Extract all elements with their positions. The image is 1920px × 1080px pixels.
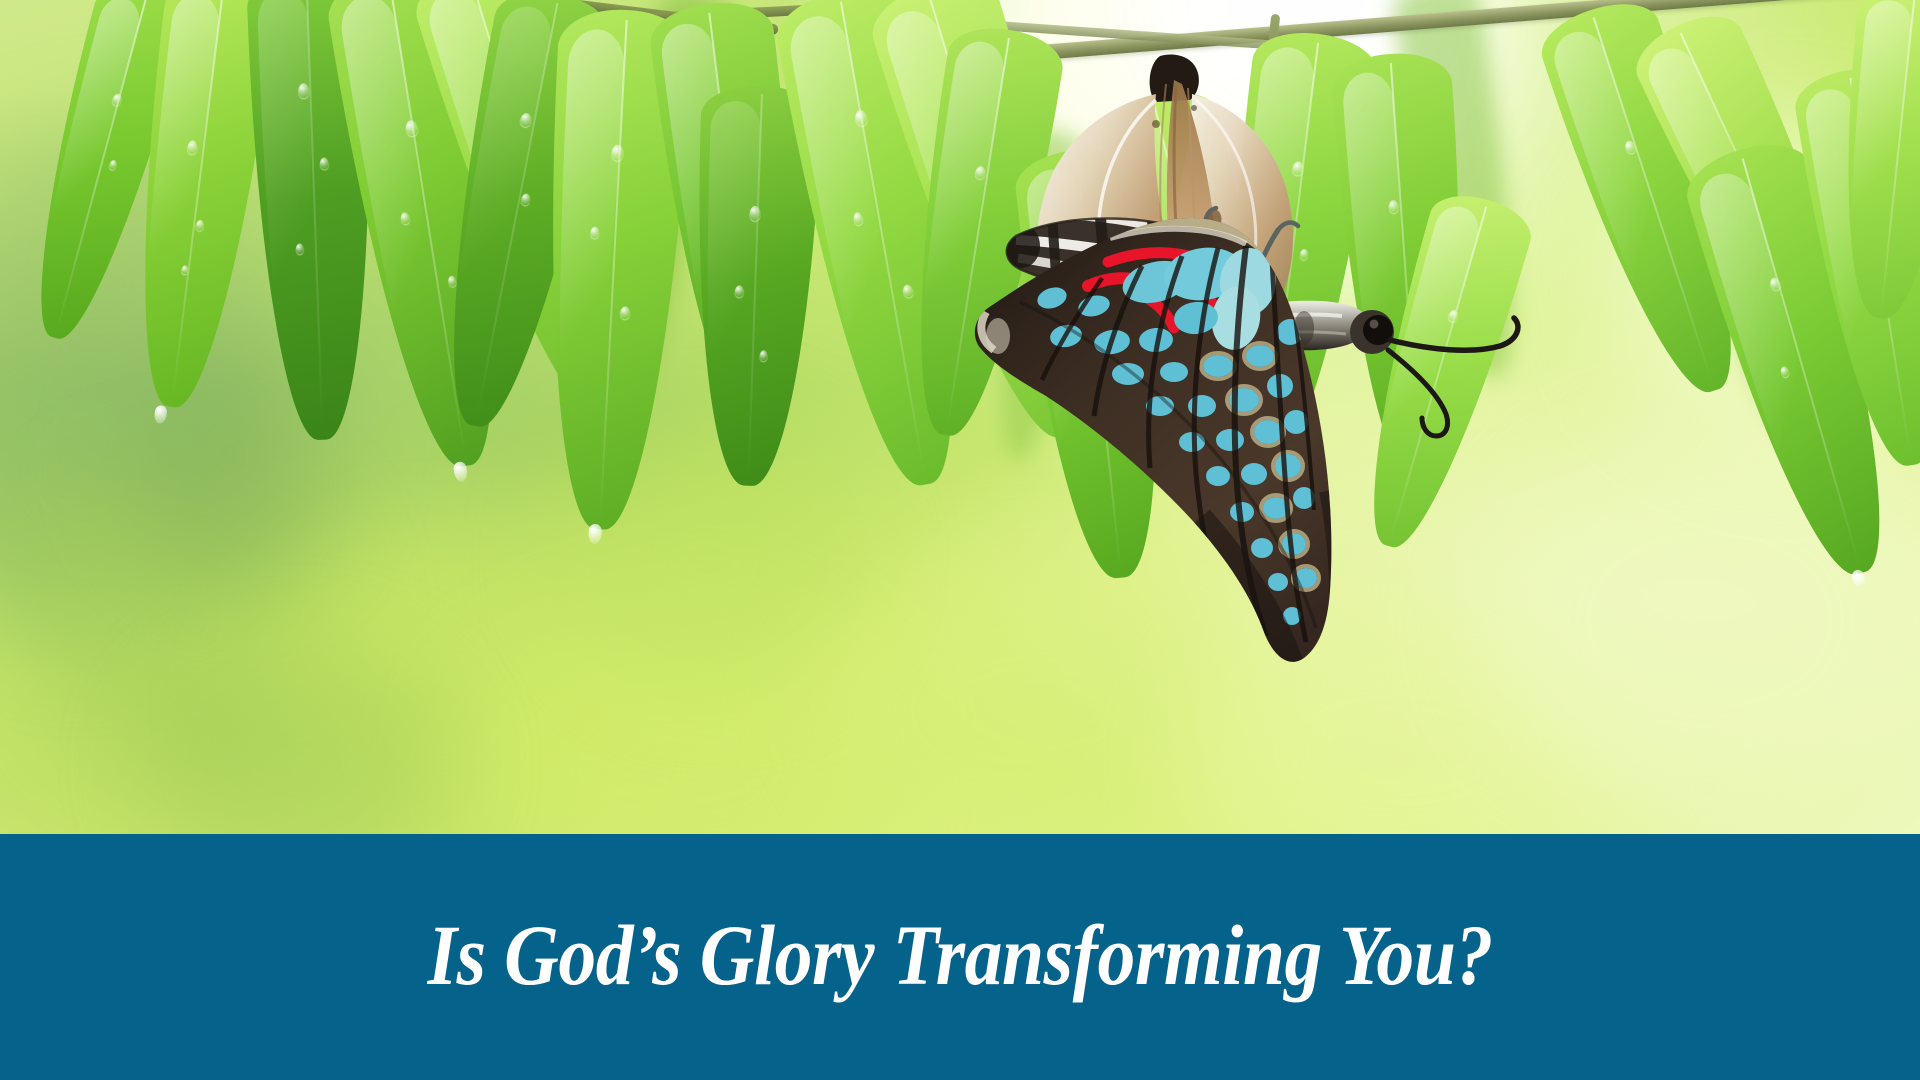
butterfly-main-wing <box>975 218 1342 688</box>
water-droplet <box>590 227 600 239</box>
water-droplet <box>734 285 743 297</box>
water-droplet <box>295 243 303 254</box>
poster-stage: Is God’s Glory Transforming You? <box>0 0 1920 1080</box>
hero-photograph <box>0 0 1920 834</box>
butterfly-antennae <box>1388 318 1518 436</box>
water-droplet <box>320 157 329 169</box>
water-droplet <box>298 83 310 98</box>
emerged-butterfly <box>960 50 1580 690</box>
page-title: Is God’s Glory Transforming You? <box>427 912 1492 998</box>
title-banner: Is God’s Glory Transforming You? <box>0 834 1920 1080</box>
water-droplet <box>749 206 761 221</box>
